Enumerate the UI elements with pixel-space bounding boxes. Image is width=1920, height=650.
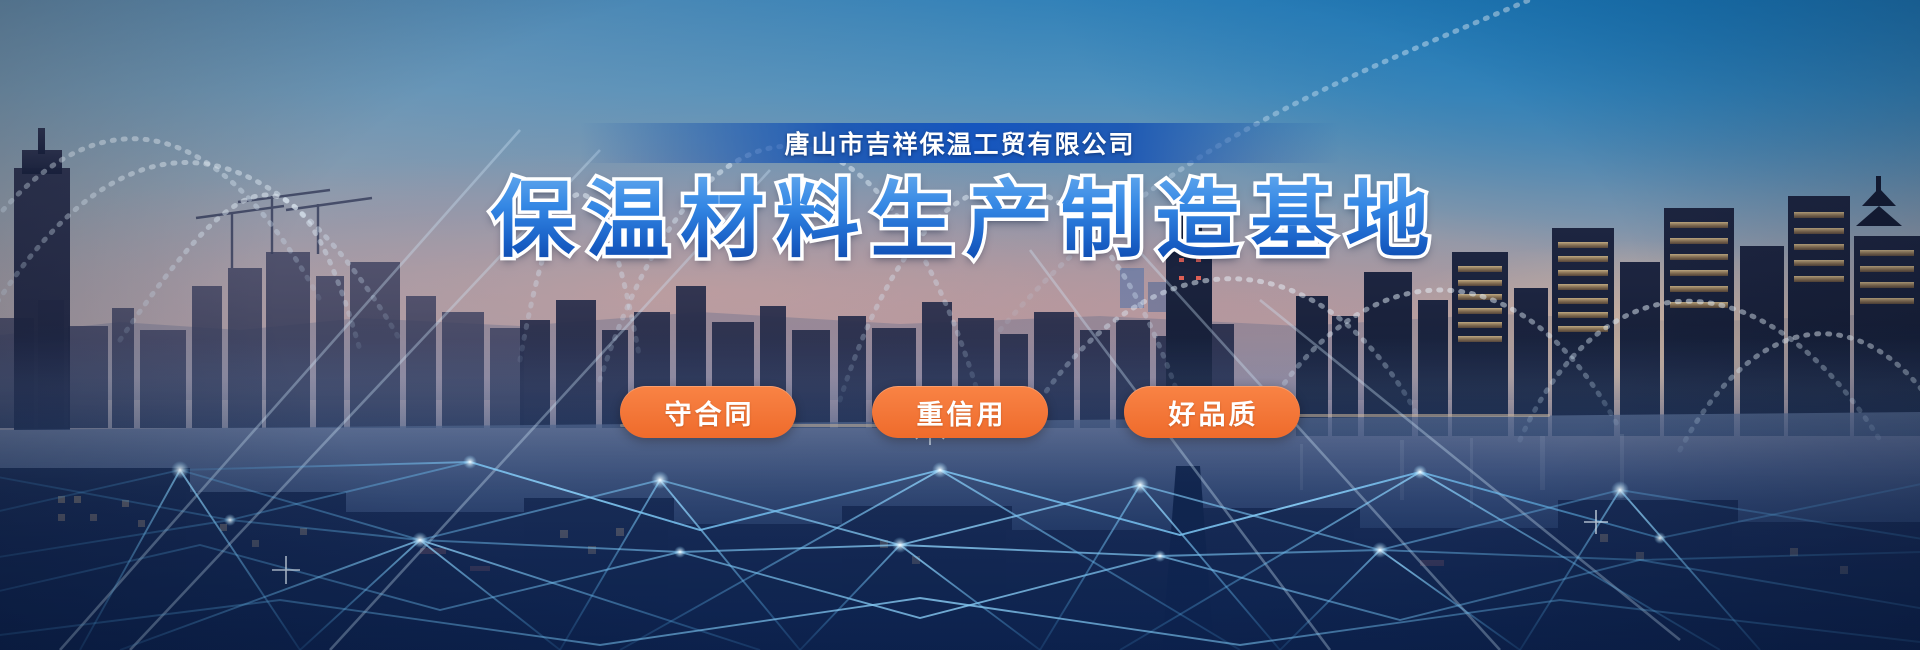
badge-label: 重信用 (914, 393, 1007, 432)
headline-wrapper: 保温材料生产制造基地 保温材料生产制造基地 (479, 176, 1440, 265)
company-name-bar: 唐山市吉祥保温工贸有限公司 (580, 123, 1340, 163)
badge-group: 守合同 重信用 好品质 (620, 386, 1300, 438)
badge-label: 好品质 (1166, 393, 1259, 432)
hero-banner: 唐山市吉祥保温工贸有限公司 保温材料生产制造基地 保温材料生产制造基地 守合同 … (0, 0, 1920, 650)
badge-haopinzhi[interactable]: 好品质 (1124, 386, 1300, 438)
banner-content: 唐山市吉祥保温工贸有限公司 保温材料生产制造基地 保温材料生产制造基地 守合同 … (0, 0, 1920, 650)
badge-label: 守合同 (662, 393, 755, 432)
badge-zhongxinyong[interactable]: 重信用 (872, 386, 1048, 438)
company-name: 唐山市吉祥保温工贸有限公司 (784, 125, 1135, 161)
badge-shouhetong[interactable]: 守合同 (620, 386, 796, 438)
headline-title: 保温材料生产制造基地 (479, 176, 1440, 265)
